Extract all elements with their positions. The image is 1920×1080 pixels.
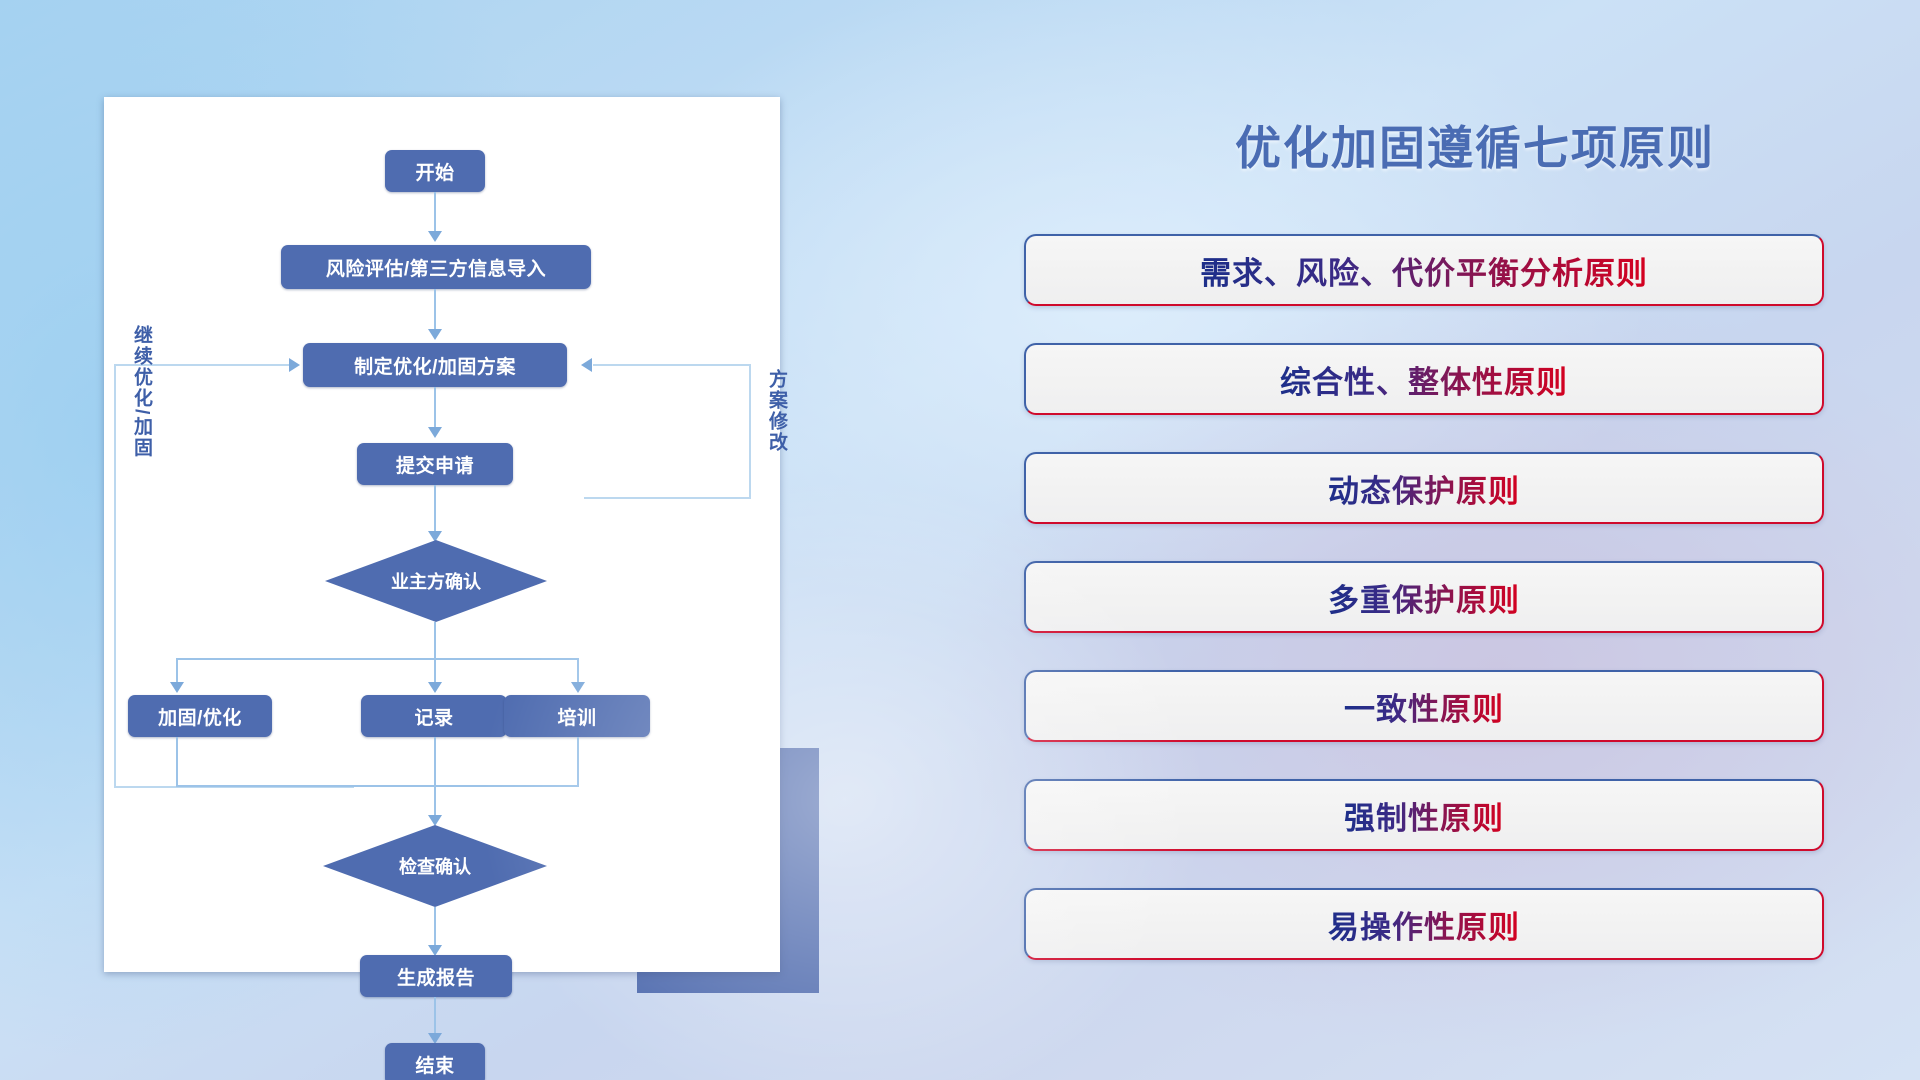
principle-label: 强制性原则 [1344, 793, 1504, 838]
principle-label: 动态保护原则 [1328, 466, 1520, 511]
flow-node-risk-assessment[interactable]: 风险评估/第三方信息导入 [281, 245, 591, 289]
flow-node-start[interactable]: 开始 [385, 150, 485, 192]
flowchart-canvas: 开始 风险评估/第三方信息导入 制定优化/加固方案 继续优化/加固 方案修改 [104, 97, 780, 972]
edge-right-loop-horizontal [593, 364, 751, 366]
edge-label-left-loop: 继续优化/加固 [131, 325, 151, 458]
flow-node-record[interactable]: 记录 [361, 695, 507, 737]
principle-label: 一致性原则 [1344, 684, 1504, 729]
panel-title: 优化加固遵循七项原则 [1155, 112, 1795, 178]
edge-merge-bus [176, 785, 578, 787]
principles-list: 需求、风险、代价平衡分析原则 综合性、整体性原则 动态保护原则 多重保护原则 一… [1024, 234, 1824, 997]
principle-label: 综合性、整体性原则 [1280, 357, 1568, 402]
arrow-submit-to-owner [428, 531, 442, 542]
principle-card[interactable]: 一致性原则 [1024, 670, 1824, 742]
flow-decision-inspect[interactable]: 检查确认 [323, 825, 547, 907]
principle-card[interactable]: 多重保护原则 [1024, 561, 1824, 633]
principle-card[interactable]: 动态保护原则 [1024, 452, 1824, 524]
arrow-left-loop-into-plan [289, 358, 300, 372]
principle-card[interactable]: 强制性原则 [1024, 779, 1824, 851]
arrow-merge-to-inspect [428, 815, 442, 826]
arrow-plan-to-submit [428, 427, 442, 438]
edge-label-right-loop: 方案修改 [766, 369, 786, 453]
edge-record-down [434, 737, 436, 787]
principle-card[interactable]: 综合性、整体性原则 [1024, 343, 1824, 415]
edge-training-down [577, 737, 579, 787]
principle-label: 易操作性原则 [1328, 902, 1520, 947]
arrow-branch-left [170, 682, 184, 693]
arrow-branch-mid [428, 682, 442, 693]
arrow-right-loop-into-plan [581, 358, 592, 372]
flow-node-plan[interactable]: 制定优化/加固方案 [303, 343, 567, 387]
arrow-start-to-risk [428, 231, 442, 242]
flow-node-report[interactable]: 生成报告 [360, 955, 512, 997]
principle-label: 需求、风险、代价平衡分析原则 [1200, 248, 1648, 293]
flow-node-end[interactable]: 结束 [385, 1043, 485, 1080]
flowchart-card: 开始 风险评估/第三方信息导入 制定优化/加固方案 继续优化/加固 方案修改 [104, 97, 780, 972]
flow-node-training[interactable]: 培训 [504, 695, 650, 737]
edge-right-loop-vertical [749, 364, 751, 499]
principle-card[interactable]: 易操作性原则 [1024, 888, 1824, 960]
arrow-risk-to-plan [428, 329, 442, 340]
edge-branch-bus [176, 658, 578, 660]
principle-card[interactable]: 需求、风险、代价平衡分析原则 [1024, 234, 1824, 306]
flow-node-reinforce[interactable]: 加固/优化 [128, 695, 272, 737]
arrow-branch-right [571, 682, 585, 693]
principle-label: 多重保护原则 [1328, 575, 1520, 620]
flow-node-submit[interactable]: 提交申请 [357, 443, 513, 485]
slide-root: 开始 风险评估/第三方信息导入 制定优化/加固方案 继续优化/加固 方案修改 [0, 0, 1920, 1080]
flow-decision-owner-confirm[interactable]: 业主方确认 [325, 540, 547, 622]
edge-right-loop-bottom [584, 497, 751, 499]
edge-left-loop-vertical [114, 364, 116, 788]
edge-owner-down [434, 622, 436, 660]
edge-submit-to-owner [434, 485, 436, 537]
edge-reinforce-down [176, 737, 178, 787]
